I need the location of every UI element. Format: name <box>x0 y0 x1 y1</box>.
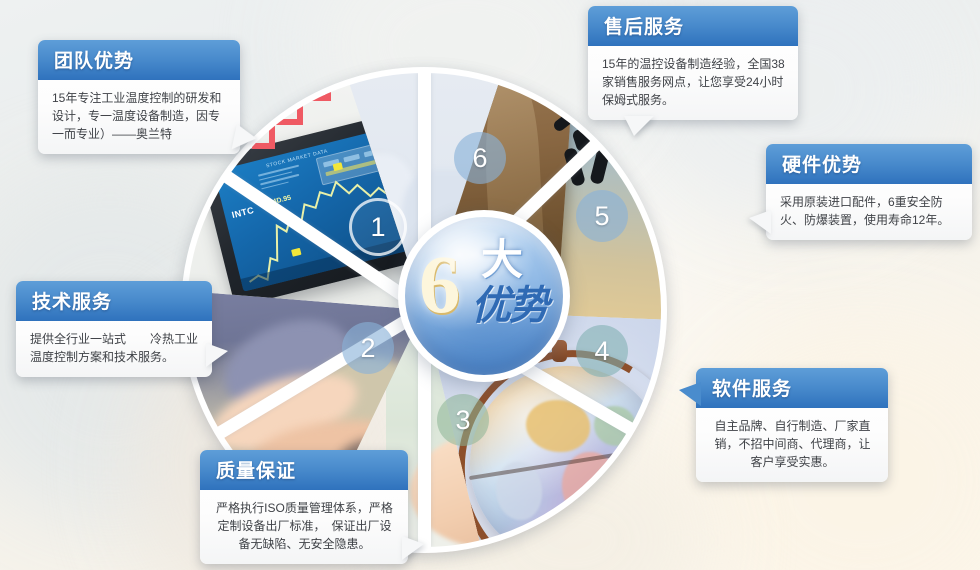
card-tail-tech <box>206 343 228 367</box>
callout-card-team[interactable]: 团队优势 15年专注工业温度控制的研发和设计，专一温度设备制造，因专一而专业）—… <box>38 40 240 154</box>
card-title-team: 团队优势 <box>38 40 240 80</box>
card-body-software: 自主品牌、自行制造、厂家直销，不招中间商、代理商，让客户享受实惠。 <box>696 408 888 482</box>
number-marker-2[interactable]: 2 <box>342 322 394 374</box>
number-marker-6[interactable]: 6 <box>454 132 506 184</box>
card-tail-software <box>679 382 701 406</box>
number-marker-5[interactable]: 5 <box>576 190 628 242</box>
center-badge[interactable]: 6 大 优势 <box>398 210 570 382</box>
card-title-after-sales: 售后服务 <box>588 6 798 46</box>
callout-card-hardware[interactable]: 硬件优势 采用原装进口配件，6重安全防火、防爆装置，使用寿命12年。 <box>766 144 972 240</box>
callout-card-quality[interactable]: 质量保证 严格执行ISO质量管理体系，严格定制设备出厂标准， 保证出厂设备无缺陷… <box>200 450 408 564</box>
card-tail-hardware <box>749 210 771 234</box>
card-tail-after-sales <box>624 116 654 136</box>
card-body-quality: 严格执行ISO质量管理体系，严格定制设备出厂标准， 保证出厂设备无缺陷、无安全隐… <box>200 490 408 564</box>
card-title-tech: 技术服务 <box>16 281 212 321</box>
badge-number: 6 <box>419 243 461 326</box>
center-badge-sphere: 6 大 优势 <box>405 217 563 375</box>
callout-card-tech[interactable]: 技术服务 提供全行业一站式 冷热工业温度控制方案和技术服务。 <box>16 281 212 377</box>
number-marker-1[interactable]: 1 <box>349 198 407 256</box>
badge-big-word: 大 <box>481 239 523 281</box>
card-title-software: 软件服务 <box>696 368 888 408</box>
card-body-team: 15年专注工业温度控制的研发和设计，专一温度设备制造，因专一而专业）——奥兰特 <box>38 80 240 154</box>
card-tail-quality <box>402 536 424 560</box>
card-title-hardware: 硬件优势 <box>766 144 972 184</box>
number-marker-4[interactable]: 4 <box>576 325 628 377</box>
callout-card-after-sales[interactable]: 售后服务 15年的温控设备制造经验，全国38家销售服务网点，让您享受24小时保姆… <box>588 6 798 120</box>
callout-card-software[interactable]: 软件服务 自主品牌、自行制造、厂家直销，不招中间商、代理商，让客户享受实惠。 <box>696 368 888 482</box>
card-body-tech: 提供全行业一站式 冷热工业温度控制方案和技术服务。 <box>16 321 212 377</box>
card-body-after-sales: 15年的温控设备制造经验，全国38家销售服务网点，让您享受24小时保姆式服务。 <box>588 46 798 120</box>
infographic-canvas: STOCK MARKET DATA INTC <box>0 0 980 570</box>
card-title-quality: 质量保证 <box>200 450 408 490</box>
badge-script-word: 优势 <box>471 285 547 327</box>
card-body-hardware: 采用原装进口配件，6重安全防火、防爆装置，使用寿命12年。 <box>766 184 972 240</box>
number-marker-3[interactable]: 3 <box>437 394 489 446</box>
